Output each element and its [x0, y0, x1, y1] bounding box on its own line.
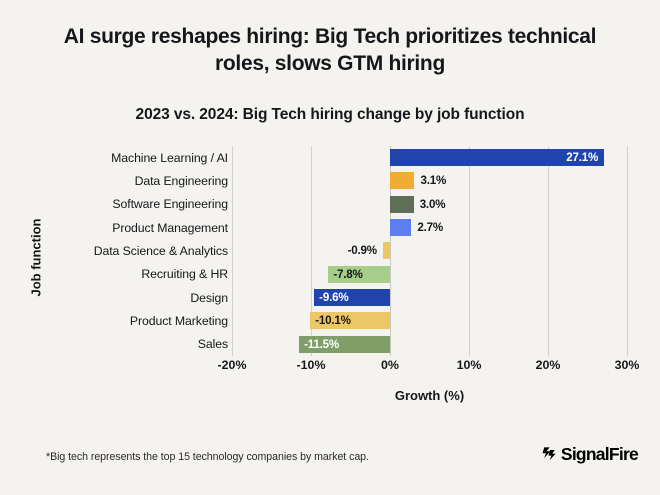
plot-area: 27.1%3.1%3.0%2.7%-0.9%-7.8%-9.6%-10.1%-1… — [232, 146, 627, 356]
gridline — [627, 146, 628, 356]
x-axis-tick-label: -20% — [218, 358, 247, 372]
x-axis-tick-labels: -20%-10%0%10%20%30% — [232, 358, 627, 378]
x-axis-tick-label: 10% — [457, 358, 482, 372]
y-axis-tick-label: Data Science & Analytics — [38, 239, 228, 262]
bar-value-label: 3.1% — [420, 172, 446, 189]
chart-subtitle: 2023 vs. 2024: Big Tech hiring change by… — [0, 106, 660, 124]
bar-row: -10.1% — [232, 309, 627, 332]
bar-row: -9.6% — [232, 286, 627, 309]
y-axis-tick-label: Recruiting & HR — [38, 263, 228, 286]
bar-value-label: -11.5% — [304, 336, 339, 353]
title-block: AI surge reshapes hiring: Big Tech prior… — [0, 24, 660, 78]
bar[interactable] — [390, 219, 411, 236]
y-axis-tick-label: Machine Learning / AI — [38, 146, 228, 169]
chart-plot: Job function Machine Learning / AIData E… — [0, 146, 660, 386]
y-axis-tick-label: Data Engineering — [38, 169, 228, 192]
x-axis-tick-label: 30% — [615, 358, 640, 372]
bar-value-label: 27.1% — [390, 149, 604, 166]
brand-name: SignalFire — [561, 446, 638, 464]
bar-value-label: -10.1% — [315, 312, 351, 329]
y-axis-tick-label: Product Marketing — [38, 309, 228, 332]
y-axis-tick-label: Sales — [38, 333, 228, 356]
chart-card: AI surge reshapes hiring: Big Tech prior… — [0, 0, 660, 495]
bar-row: -7.8% — [232, 263, 627, 286]
signalfire-logo: SignalFire — [541, 446, 638, 464]
bar-row: 27.1% — [232, 146, 627, 169]
bar[interactable] — [390, 196, 414, 213]
y-axis-tick-labels: Machine Learning / AIData EngineeringSof… — [38, 146, 228, 356]
y-axis-tick-label: Software Engineering — [38, 193, 228, 216]
bar-value-label: -0.9% — [232, 242, 383, 259]
page-title: AI surge reshapes hiring: Big Tech prior… — [58, 24, 602, 78]
footnote: *Big tech represents the top 15 technolo… — [46, 451, 369, 463]
bar-value-label: -7.8% — [333, 266, 362, 283]
bar-row: -0.9% — [232, 239, 627, 262]
y-axis-tick-label: Product Management — [38, 216, 228, 239]
bar-value-label: 2.7% — [417, 219, 443, 236]
bar[interactable] — [383, 242, 390, 259]
bar-row: 3.1% — [232, 169, 627, 192]
bar-row: 2.7% — [232, 216, 627, 239]
x-axis-tick-label: 20% — [536, 358, 561, 372]
x-axis-tick-label: -10% — [297, 358, 326, 372]
x-axis-label: Growth (%) — [232, 388, 627, 403]
signalfire-flame-icon — [541, 446, 558, 463]
bar-row: -11.5% — [232, 333, 627, 356]
bar-value-label: -9.6% — [319, 289, 348, 306]
bar-value-label: 3.0% — [420, 196, 446, 213]
bar[interactable] — [390, 172, 414, 189]
y-axis-tick-label: Design — [38, 286, 228, 309]
bar-row: 3.0% — [232, 193, 627, 216]
x-axis-tick-label: 0% — [381, 358, 399, 372]
